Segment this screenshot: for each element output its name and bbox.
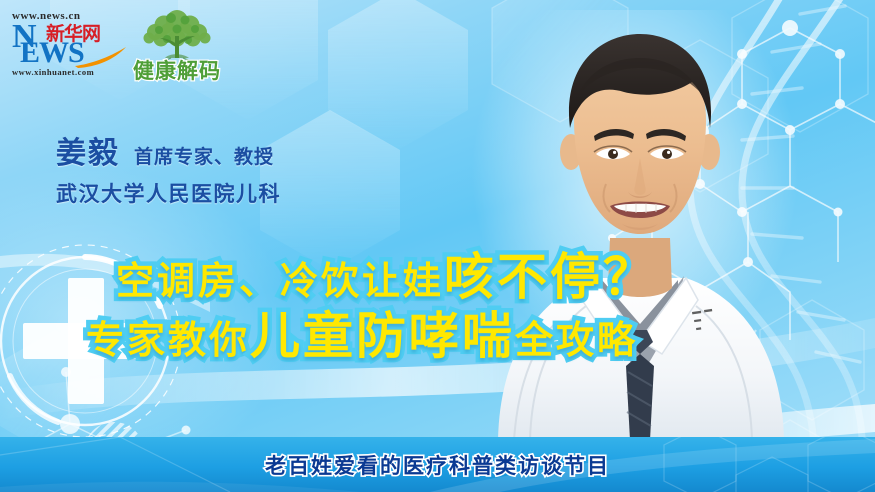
xinhua-logo[interactable]: www.news.cn N EWS 新华网 www.xinhuanet.com	[12, 10, 120, 80]
footer-tagline: 老百姓爱看的医疗科普类访谈节目	[0, 450, 875, 480]
speaker-affiliation: 武汉大学人民医院儿科	[56, 178, 281, 208]
tree-icon	[131, 8, 223, 64]
speaker-name-row: 姜毅 首席专家、教授	[56, 128, 281, 172]
footer-band: 老百姓爱看的医疗科普类访谈节目	[0, 437, 875, 492]
xinhua-chinese-name: 新华网	[46, 24, 100, 45]
video-thumbnail-poster: www.news.cn N EWS 新华网 www.xinhuanet.com	[0, 0, 875, 492]
medical-cross-icon	[23, 278, 149, 404]
program-name: 健康解码	[118, 60, 236, 84]
doctor-portrait	[470, 24, 810, 440]
speaker-name: 姜毅	[56, 128, 120, 172]
speaker-info: 姜毅 首席专家、教授 武汉大学人民医院儿科	[56, 128, 281, 208]
xinhua-wordmark: N EWS 新华网	[12, 22, 120, 66]
tech-rings-icon	[0, 236, 190, 446]
speaker-title: 首席专家、教授	[134, 142, 274, 169]
program-logo[interactable]: 健康解码	[118, 8, 236, 94]
medical-cross-emblem	[0, 236, 190, 446]
